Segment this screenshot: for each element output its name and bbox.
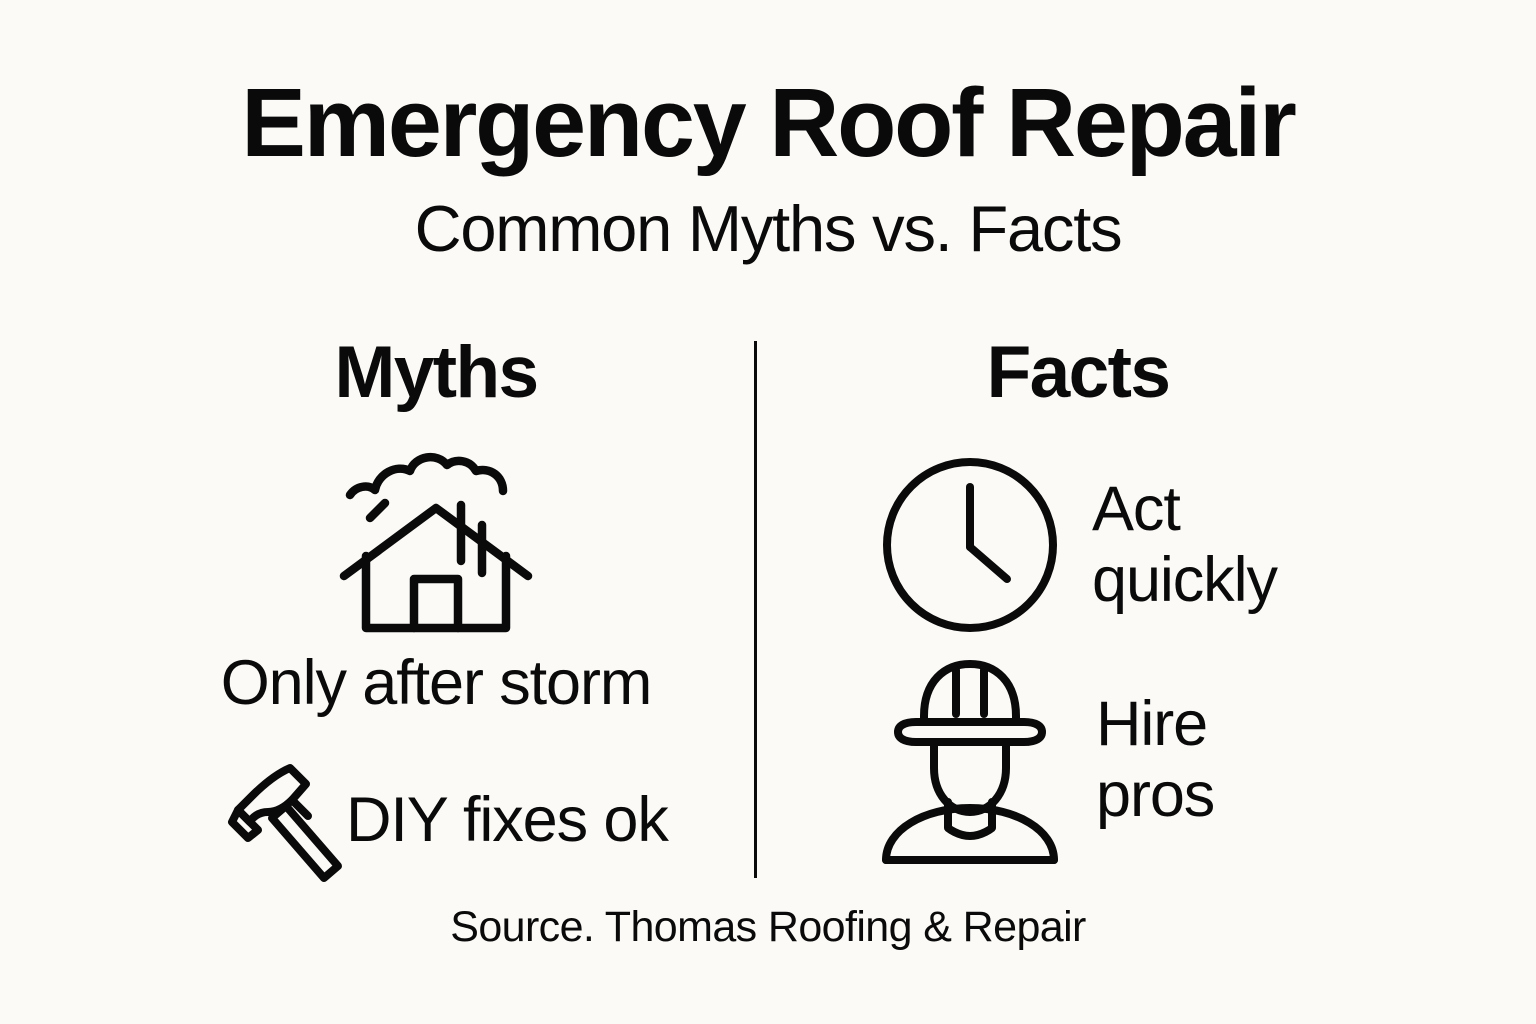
fact-item-2-label-line-1: Hire bbox=[1096, 689, 1214, 760]
column-heading-myths: Myths bbox=[186, 336, 686, 409]
fact-item-2: Hire pros bbox=[876, 652, 1356, 868]
column-divider bbox=[754, 341, 757, 878]
hard-hat-worker-icon bbox=[876, 652, 1064, 868]
column-heading-facts: Facts bbox=[828, 336, 1328, 409]
myth-item-2-label: DIY fixes ok bbox=[346, 789, 668, 852]
fact-item-1: Act quickly bbox=[880, 455, 1360, 635]
fact-item-2-label: Hire pros bbox=[1096, 689, 1214, 830]
fact-item-2-label-line-2: pros bbox=[1096, 760, 1214, 831]
myth-item-2: DIY fixes ok bbox=[228, 760, 728, 880]
page-title: Emergency Roof Repair bbox=[0, 74, 1536, 171]
clock-icon bbox=[880, 455, 1060, 635]
infographic-canvas: Emergency Roof Repair Common Myths vs. F… bbox=[0, 0, 1536, 1024]
fact-item-1-label: Act quickly bbox=[1092, 474, 1277, 615]
myth-item-1-label: Only after storm bbox=[150, 652, 722, 715]
source-attribution: Source. Thomas Roofing & Repair bbox=[0, 906, 1536, 949]
fact-item-1-label-line-1: Act bbox=[1092, 474, 1277, 545]
page-subtitle: Common Myths vs. Facts bbox=[0, 196, 1536, 261]
hammer-icon bbox=[228, 760, 354, 880]
house-storm-icon bbox=[340, 448, 532, 640]
fact-item-1-label-line-2: quickly bbox=[1092, 545, 1277, 616]
